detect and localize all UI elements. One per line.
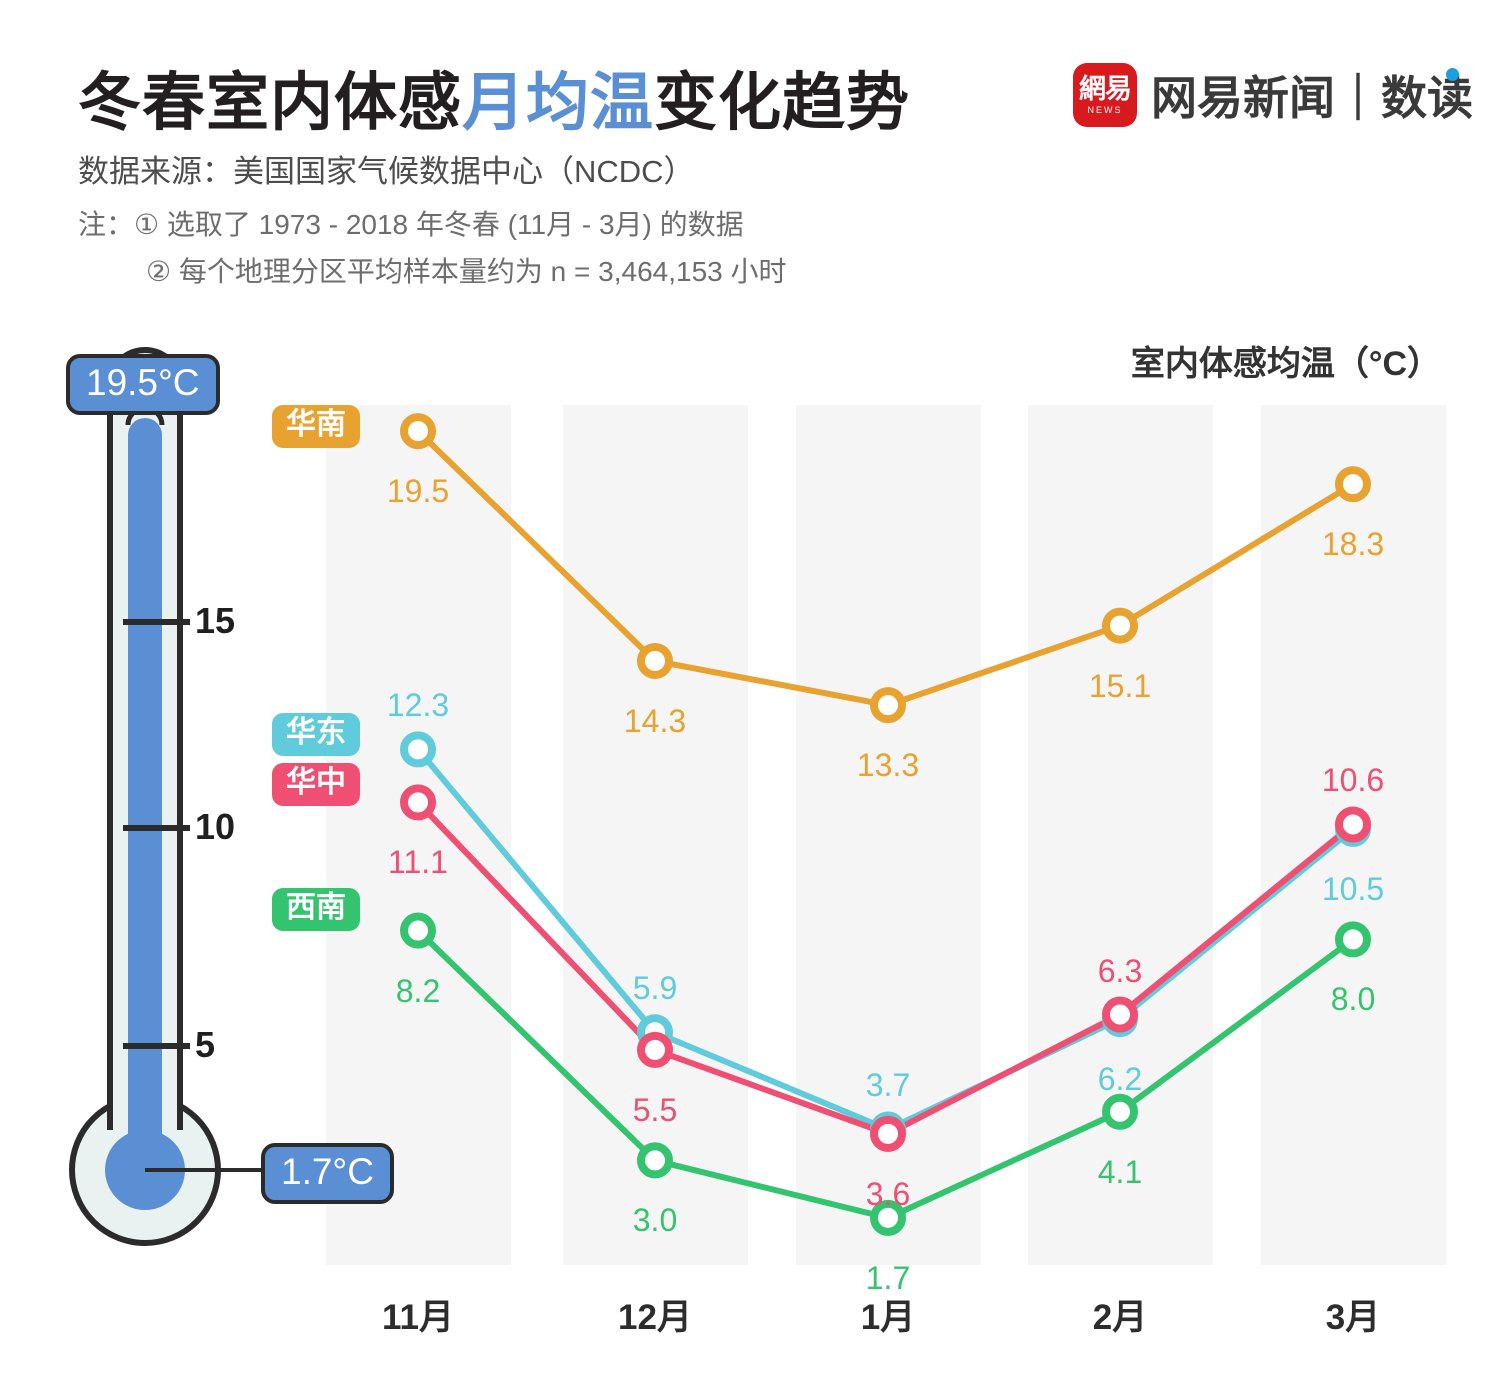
data-point-label: 19.5 — [358, 473, 478, 510]
data-point-label: 6.2 — [1060, 1061, 1180, 1098]
logo-accent-dot-icon — [1446, 68, 1459, 81]
thermometer-max-badge: 19.5°C — [66, 354, 220, 415]
thermometer-tick-label-10: 10 — [195, 806, 235, 848]
title-part-2: 变化趋势 — [654, 68, 910, 138]
thermometer-tick-label-5: 5 — [195, 1024, 215, 1066]
thermometer-svg — [60, 325, 310, 1275]
data-point-label: 13.3 — [828, 747, 948, 784]
logo-text: 网易新闻｜数读 — [1151, 62, 1473, 128]
chart-band — [326, 405, 511, 1265]
chart-axis-title: 室内体感均温（°C） — [1131, 336, 1441, 385]
data-point-label: 8.2 — [358, 973, 478, 1010]
chart-band — [563, 405, 748, 1265]
data-point-label: 18.3 — [1293, 526, 1413, 563]
x-axis-label: 1月 — [808, 1289, 968, 1340]
data-point-label: 5.5 — [595, 1092, 715, 1129]
data-source-text: 数据来源：美国国家气候数据中心（NCDC） — [78, 146, 695, 191]
data-point-label: 8.0 — [1293, 981, 1413, 1018]
logo-mark-top: 網易 — [1079, 76, 1131, 103]
title-highlight: 月均温 — [462, 68, 654, 138]
data-point-label: 5.9 — [595, 970, 715, 1007]
thermometer-mercury — [128, 418, 162, 1170]
note-line-1: 注：① 选取了 1973 - 2018 年冬春 (11月 - 3月) 的数据 — [78, 203, 744, 243]
data-point-label: 10.5 — [1293, 871, 1413, 908]
chart-band — [796, 405, 981, 1265]
logo-mark-bottom: NEWS — [1088, 106, 1123, 115]
thermometer-graphic: 15 10 5 19.5°C 1.7°C — [60, 325, 310, 1275]
x-axis-label: 3月 — [1273, 1289, 1433, 1340]
data-point-label: 10.6 — [1293, 762, 1413, 799]
title-part-1: 冬春室内体感 — [78, 68, 462, 138]
data-point-label: 11.1 — [358, 844, 478, 881]
data-point-label: 12.3 — [358, 687, 478, 724]
x-axis-label: 12月 — [575, 1289, 735, 1340]
brand-logo: 網易 NEWS 网易新闻｜数读 — [1073, 62, 1473, 128]
data-point-label: 3.0 — [595, 1202, 715, 1239]
data-point-label: 6.3 — [1060, 953, 1180, 990]
data-point-label: 4.1 — [1060, 1154, 1180, 1191]
x-axis-label: 11月 — [338, 1289, 498, 1340]
x-axis-label: 2月 — [1040, 1289, 1200, 1340]
infographic-root: 冬春室内体感月均温变化趋势 数据来源：美国国家气候数据中心（NCDC） 注：① … — [0, 0, 1501, 1374]
thermometer-min-badge: 1.7°C — [261, 1143, 394, 1204]
data-point-label: 3.7 — [828, 1067, 948, 1104]
chart-band — [1028, 405, 1213, 1265]
data-point-label: 15.1 — [1060, 668, 1180, 705]
data-point-label: 3.6 — [828, 1176, 948, 1213]
page-title: 冬春室内体感月均温变化趋势 — [78, 52, 910, 143]
note-line-2: ② 每个地理分区平均样本量约为 n = 3,464,153 小时 — [146, 250, 787, 290]
thermometer-tick-label-15: 15 — [195, 600, 235, 642]
netease-logo-icon: 網易 NEWS — [1073, 63, 1137, 127]
data-point-label: 14.3 — [595, 703, 715, 740]
